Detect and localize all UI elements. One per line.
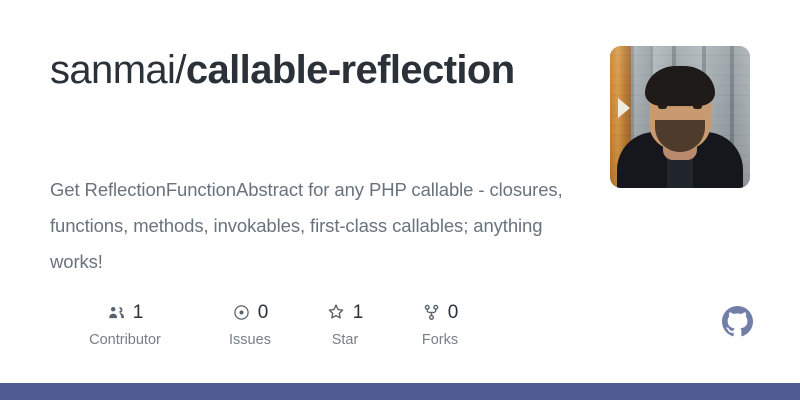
avatar-wall-marker	[618, 98, 630, 118]
stat-issues-top: 0	[202, 300, 298, 324]
repo-social-preview-card: sanmai/callable-reflection Get Reflectio…	[0, 0, 800, 400]
stat-star: 1 Star	[300, 300, 390, 348]
stat-star-count: 1	[353, 303, 364, 322]
stat-issues: 0 Issues	[202, 300, 298, 348]
avatar-person-eye-right	[693, 104, 702, 109]
stat-issues-count: 0	[258, 303, 269, 322]
owner-avatar	[610, 46, 750, 188]
stat-contributors: 1 Contributor	[50, 300, 200, 348]
stat-forks-top: 0	[392, 300, 488, 324]
stat-forks: 0 Forks	[392, 300, 488, 348]
stat-star-label: Star	[300, 333, 390, 348]
stat-contributors-label: Contributor	[50, 333, 200, 348]
stat-forks-count: 0	[448, 303, 459, 322]
repo-owner: sanmai	[50, 48, 175, 92]
repo-stats: 1 Contributor 0 Issues	[50, 300, 480, 358]
page-title: sanmai/callable-reflection	[50, 44, 580, 97]
stat-forks-label: Forks	[392, 333, 488, 348]
stat-star-top: 1	[300, 300, 390, 324]
avatar-person-hair	[645, 66, 715, 106]
avatar-person-eye-left	[658, 104, 667, 109]
stat-contributors-count: 1	[133, 303, 144, 322]
people-icon	[107, 303, 126, 322]
repo-name-separator: /	[175, 48, 186, 92]
stat-issues-label: Issues	[202, 333, 298, 348]
repo-description: Get ReflectionFunctionAbstract for any P…	[50, 172, 580, 280]
star-icon	[327, 303, 346, 322]
issue-opened-icon	[232, 303, 251, 322]
repo-forked-icon	[422, 303, 441, 322]
github-mark-icon	[722, 306, 753, 337]
stat-contributors-top: 1	[50, 300, 200, 324]
repo-name: callable-reflection	[186, 48, 515, 92]
bottom-accent-bar	[0, 383, 800, 400]
